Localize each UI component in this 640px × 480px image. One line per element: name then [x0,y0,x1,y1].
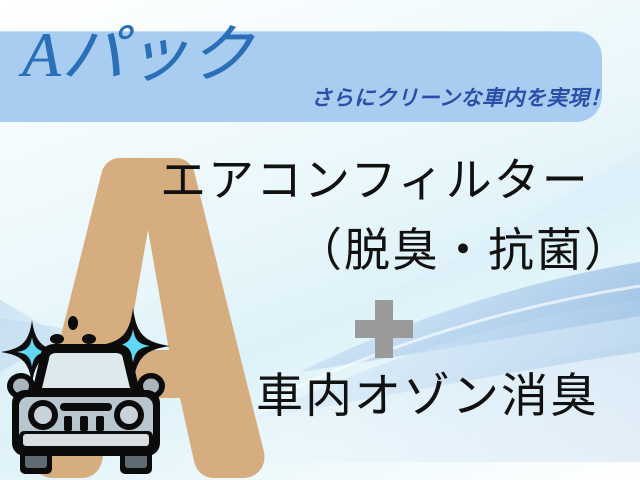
service-heading-primary: エアコンフィルター [160,158,590,204]
service-heading-secondary: 車内オゾン消臭 [256,374,599,421]
promo-banner-canvas: Aパック さらにクリーンな車内を実現！ エアコンフィルター （脱臭・抗菌） 車内… [0,0,640,480]
car-front-icon [2,300,187,480]
service-heading-primary-detail: （脱臭・抗菌） [296,228,632,274]
page-title: Aパック [22,24,253,87]
header-tagline: さらにクリーンな車内を実現！ [311,88,611,109]
plus-icon [355,300,413,358]
